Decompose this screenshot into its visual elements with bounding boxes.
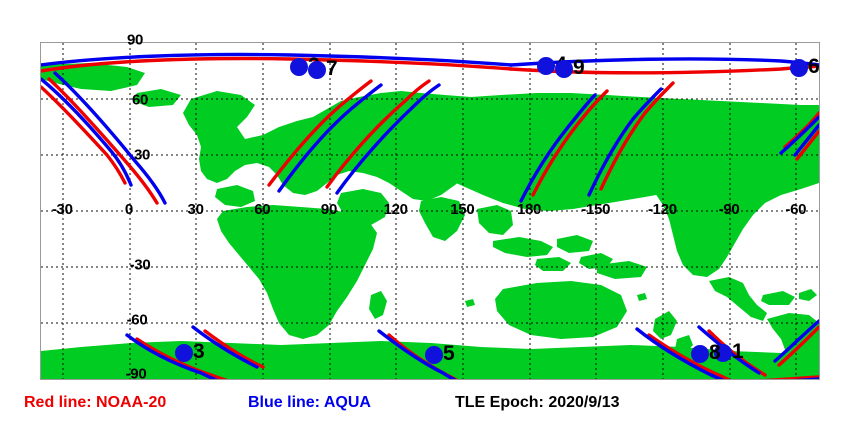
marker-dot-icon bbox=[691, 345, 709, 363]
lat-tick-30: 30 bbox=[134, 148, 150, 163]
satellite-ground-track-map: -300306090120150180-150-120-90-60 906030… bbox=[0, 0, 850, 425]
lon-tick--150: -150 bbox=[581, 202, 610, 217]
lat-tick--90: -90 bbox=[126, 367, 147, 382]
legend-bar: Red line: NOAA-20 Blue line: AQUA TLE Ep… bbox=[0, 392, 850, 422]
marker-dot-icon bbox=[308, 61, 326, 79]
lon-tick-150: 150 bbox=[450, 202, 474, 217]
marker-dot-icon bbox=[425, 346, 443, 364]
world-map-canvas bbox=[41, 43, 819, 379]
marker-dot-icon bbox=[790, 59, 808, 77]
lon-tick-30: 30 bbox=[188, 202, 204, 217]
marker-dot-icon bbox=[555, 60, 573, 78]
marker-label: 6 bbox=[808, 56, 820, 77]
legend-red-line: Red line: NOAA-20 bbox=[24, 392, 166, 414]
lat-tick-60: 60 bbox=[132, 93, 148, 108]
marker-label: 8 bbox=[709, 342, 721, 363]
marker-label: 1 bbox=[732, 341, 744, 362]
lon-tick-90: 90 bbox=[321, 202, 337, 217]
lat-tick--30: -30 bbox=[130, 257, 151, 272]
marker-dot-icon bbox=[175, 344, 193, 362]
legend-tle-epoch: TLE Epoch: 2020/9/13 bbox=[455, 392, 620, 414]
lon-tick-180: 180 bbox=[517, 202, 541, 217]
lon-tick--90: -90 bbox=[719, 202, 740, 217]
map-plot-area bbox=[40, 42, 820, 380]
marker-dot-icon bbox=[537, 57, 555, 75]
legend-blue-line: Blue line: AQUA bbox=[248, 392, 371, 414]
marker-label: 3 bbox=[193, 341, 205, 362]
lat-tick--60: -60 bbox=[127, 312, 148, 327]
lon-tick--30: -30 bbox=[52, 202, 73, 217]
marker-dot-icon bbox=[290, 58, 308, 76]
lat-tick-90: 90 bbox=[127, 33, 143, 48]
lon-tick-120: 120 bbox=[384, 202, 408, 217]
marker-label: 7 bbox=[326, 58, 338, 79]
lon-tick--60: -60 bbox=[785, 202, 806, 217]
lon-tick-60: 60 bbox=[254, 202, 270, 217]
marker-label: 5 bbox=[443, 343, 455, 364]
lon-tick-0: 0 bbox=[125, 202, 133, 217]
marker-label: 9 bbox=[573, 57, 585, 78]
lon-tick--120: -120 bbox=[648, 202, 677, 217]
